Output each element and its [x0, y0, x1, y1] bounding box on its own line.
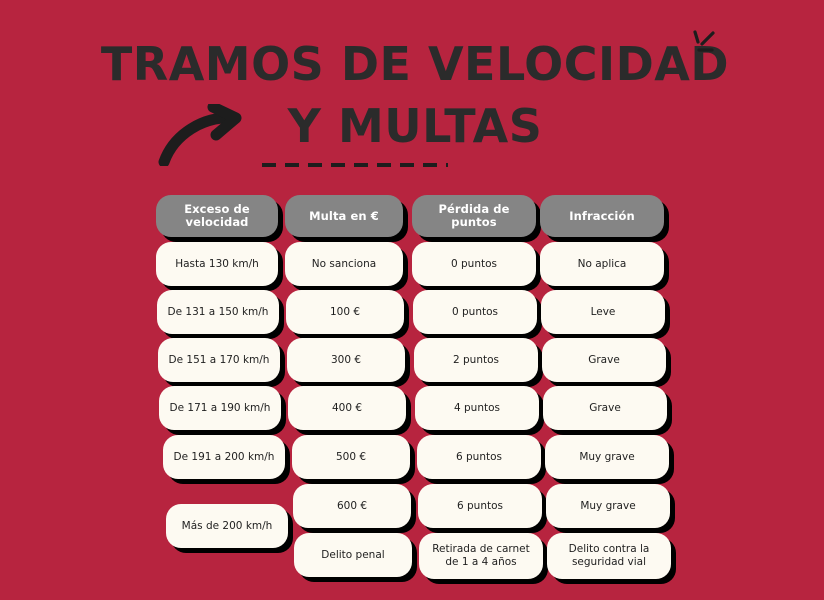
table-data-cell: De 171 a 190 km/h: [159, 386, 281, 430]
table-data-cell: Muy grave: [545, 435, 669, 479]
table-data-cell: De 131 a 150 km/h: [157, 290, 279, 334]
table-header-cell: Exceso de velocidad: [156, 195, 278, 237]
table-data-cell: De 151 a 170 km/h: [158, 338, 280, 382]
table-data-cell: No aplica: [540, 242, 664, 286]
table-header-cell: Multa en €: [285, 195, 403, 237]
table-data-cell: 4 puntos: [415, 386, 539, 430]
table-header-cell: Pérdida de puntos: [412, 195, 536, 237]
table-data-cell: 400 €: [288, 386, 406, 430]
table-data-cell: No sanciona: [285, 242, 403, 286]
table-data-cell: Delito contra la seguridad vial: [547, 533, 671, 579]
table-header-cell: Infracción: [540, 195, 664, 237]
table-data-cell: Más de 200 km/h: [166, 504, 288, 548]
table-data-cell: 500 €: [292, 435, 410, 479]
table-data-cell: Leve: [541, 290, 665, 334]
table-data-cell: 0 puntos: [413, 290, 537, 334]
table-data-cell: Delito penal: [294, 533, 412, 577]
sparkle-icon: [686, 28, 726, 68]
table-data-cell: 6 puntos: [418, 484, 542, 528]
table-data-cell: Retirada de carnet de 1 a 4 años: [419, 533, 543, 579]
table-data-cell: 300 €: [287, 338, 405, 382]
table-data-cell: Muy grave: [546, 484, 670, 528]
table-data-cell: 0 puntos: [412, 242, 536, 286]
table-data-cell: Hasta 130 km/h: [156, 242, 278, 286]
dashed-line-decoration: [262, 163, 448, 167]
table-data-cell: 2 puntos: [414, 338, 538, 382]
table-data-cell: De 191 a 200 km/h: [163, 435, 285, 479]
page-title-line-2: Y MULTAS: [0, 100, 824, 152]
table-data-cell: 6 puntos: [417, 435, 541, 479]
table-data-cell: 600 €: [293, 484, 411, 528]
curved-arrow-icon: [158, 104, 258, 166]
table-data-cell: 100 €: [286, 290, 404, 334]
speed-fines-table: Exceso de velocidadHasta 130 km/hDe 131 …: [0, 190, 824, 600]
title-block: TRAMOS DE VELOCIDAD Y MULTAS: [0, 0, 824, 190]
table-data-cell: Grave: [543, 386, 667, 430]
table-data-cell: Grave: [542, 338, 666, 382]
